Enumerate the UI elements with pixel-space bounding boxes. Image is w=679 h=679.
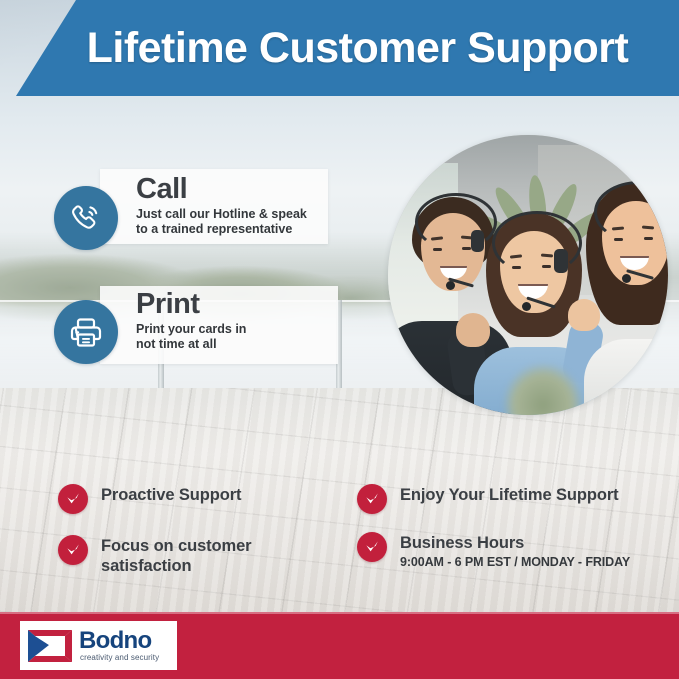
checklist-item-labels: Proactive Support [101,483,241,506]
feature-card-call-description: Just call our Hotline & speak to a train… [136,207,307,238]
feature-card-call-title: Call [136,175,307,204]
feature-card-print-title: Print [136,290,246,319]
printer-icon [54,300,118,364]
checklist-item-label: Business Hours [400,534,630,554]
brand-tagline: creativity and security [80,654,159,662]
feature-card-call-text: Call Just call our Hotline & speak to a … [136,175,307,238]
business-hours-detail: 9:00AM - 6 PM EST / MONDAY - FRIDAY [400,555,630,571]
call-center-team-photo [388,135,668,415]
check-circle-icon [357,532,387,562]
check-circle-icon [58,484,88,514]
checklist-item-labels: Enjoy Your Lifetime Support [400,483,619,506]
feature-card-print-text: Print Print your cards in not time at al… [136,290,246,353]
checklist-item-label: Proactive Support [101,486,241,506]
footer-divider [0,612,679,614]
checklist-item-label: Focus on customer satisfaction [101,537,252,577]
checklist-item-label: Enjoy Your Lifetime Support [400,486,619,506]
brand-logo[interactable]: Bodno creativity and security [20,621,177,670]
checklist-item-labels: Business Hours 9:00AM - 6 PM EST / MONDA… [400,531,630,570]
bodno-card-logo-mark-icon [27,629,73,663]
phone-call-icon [54,186,118,250]
checklist-item-focus-on-customer-satisfaction: Focus on customer satisfaction [58,534,252,577]
page-title: Lifetime Customer Support [0,0,679,96]
brand-logo-text: Bodno creativity and security [79,629,159,662]
checklist-item-business-hours: Business Hours 9:00AM - 6 PM EST / MONDA… [357,531,630,570]
footer-bar: Bodno creativity and security [0,612,679,679]
lifetime-customer-support-poster: Lifetime Customer Support Call Just call… [0,0,679,679]
brand-name: Bodno [79,629,159,653]
checklist-item-labels: Focus on customer satisfaction [101,534,252,577]
feature-card-print-description: Print your cards in not time at all [136,322,246,353]
check-circle-icon [357,484,387,514]
check-circle-icon [58,535,88,565]
photo-foreground-plant [503,363,583,415]
checklist-item-enjoy-your-lifetime-support: Enjoy Your Lifetime Support [357,483,619,514]
checklist-item-proactive-support: Proactive Support [58,483,241,514]
